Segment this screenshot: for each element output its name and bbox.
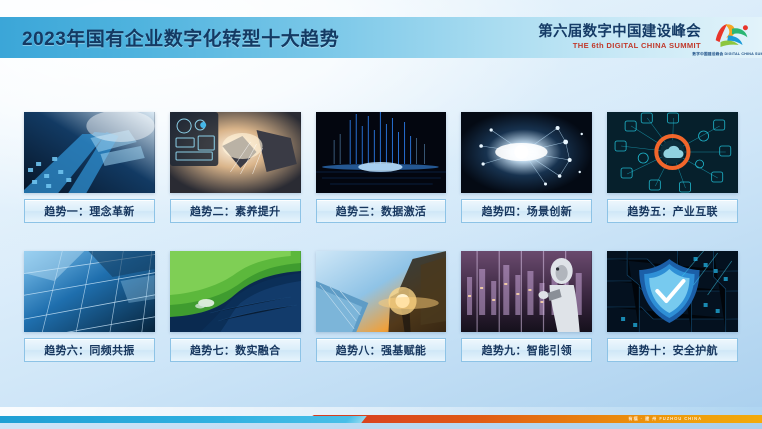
header-bar: 2023年国有企业数字化转型十大趋势 第六届数字中国建设峰会 THE 6th D… [0,17,762,58]
trend-card[interactable]: 趋势九：智能引领 [461,251,592,362]
trend-label-text: 趋势九：智能引领 [482,342,572,358]
cloud-ring-iot-network-image [607,112,738,193]
trend-label: 趋势三：数据激活 [316,199,447,223]
solar-panel-array-image [24,251,155,332]
trend-label-text: 趋势七：数实融合 [190,342,280,358]
footer-bar: 有福 · 建 州 FUZHOU CHINA [0,407,762,429]
summit-title-en: THE 6th DIGITAL CHINA SUMMIT [573,42,701,50]
blue-data-streams-image [316,112,447,193]
trend-label-text: 趋势十：安全护航 [627,342,717,358]
green-forest-river-image [170,251,301,332]
trend-label: 趋势二：素养提升 [170,199,301,223]
trend-label-text: 趋势一：理念革新 [44,203,134,219]
footer-caption: 有福 · 建 州 FUZHOU CHINA [628,416,702,422]
glass-building-sunrise-image [316,251,447,332]
trend-label: 趋势七：数实融合 [170,338,301,362]
trend-card[interactable]: 趋势十：安全护航 [607,251,738,362]
robot-city-window-image [461,251,592,332]
trend-card[interactable]: 趋势七：数实融合 [170,251,301,362]
trend-card[interactable]: 趋势二：素养提升 [170,112,301,223]
trend-card[interactable]: 趋势一：理念革新 [24,112,155,223]
data-staircase-tower-image [24,112,155,193]
trend-label-text: 趋势二：素养提升 [190,203,280,219]
summit-logo-subtext: 数字中国建设峰会 DIGITAL CHINA SUMMIT [693,51,762,57]
summit-branding: 第六届数字中国建设峰会 THE 6th DIGITAL CHINA SUMMIT… [538,17,756,58]
trend-label: 趋势十：安全护航 [607,338,738,362]
trend-grid: 趋势一：理念革新 [24,112,738,362]
trend-label: 趋势五：产业互联 [607,199,738,223]
trend-label: 趋势八：强基赋能 [316,338,447,362]
trend-label: 趋势六：同频共振 [24,338,155,362]
trend-label-text: 趋势四：场景创新 [482,203,572,219]
trend-label: 趋势一：理念革新 [24,199,155,223]
blue-shield-circuit-image [607,251,738,332]
trend-card[interactable]: 趋势五：产业互联 [607,112,738,223]
trend-card[interactable]: 趋势三：数据激活 [316,112,447,223]
summit-title-cn: 第六届数字中国建设峰会 [538,25,701,40]
summit-text-block: 第六届数字中国建设峰会 THE 6th DIGITAL CHINA SUMMIT [538,25,701,50]
footer-fade [0,407,762,416]
page-title: 2023年国有企业数字化转型十大趋势 [22,24,339,51]
trend-label: 趋势四：场景创新 [461,199,592,223]
trend-card[interactable]: 趋势四：场景创新 [461,112,592,223]
slide: 2023年国有企业数字化转型十大趋势 第六届数字中国建设峰会 THE 6th D… [0,0,762,429]
trend-label-text: 趋势六：同频共振 [44,342,134,358]
trend-label-text: 趋势三：数据激活 [336,203,426,219]
summit-logo-icon: 数字中国建设峰会 DIGITAL CHINA SUMMIT [708,18,756,58]
trend-label-text: 趋势八：强基赋能 [336,342,426,358]
footer-accent-blue [0,416,352,423]
light-burst-network-image [461,112,592,193]
trend-card[interactable]: 趋势六：同频共振 [24,251,155,362]
hands-touch-dashboard-image [170,112,301,193]
trend-label-text: 趋势五：产业互联 [627,203,717,219]
trend-card[interactable]: 趋势八：强基赋能 [316,251,447,362]
trend-label: 趋势九：智能引领 [461,338,592,362]
